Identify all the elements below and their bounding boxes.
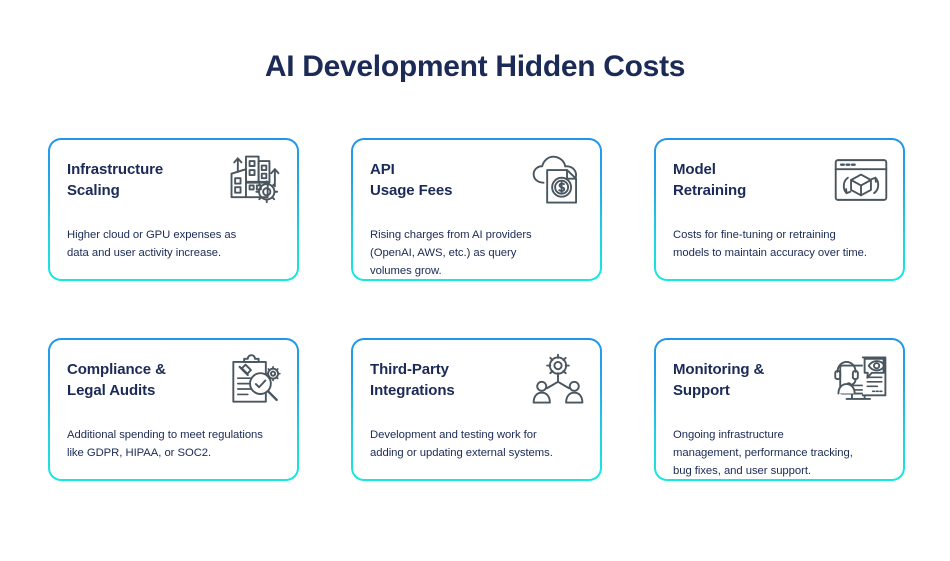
monitor-eye-headset-icon bbox=[832, 352, 890, 408]
card-body: Ongoing infrastructure management, perfo… bbox=[673, 426, 889, 479]
card-heading: Third-Party Integrations bbox=[370, 359, 510, 401]
cards-grid: Infrastructure Scaling Higher cloud or G… bbox=[48, 138, 904, 481]
card-body: Development and testing work for adding … bbox=[370, 426, 586, 462]
clipboard-gavel-magnifier-icon bbox=[226, 352, 284, 408]
card-compliance-legal-audits[interactable]: Compliance & Legal Audits Additional spe… bbox=[48, 338, 299, 481]
card-body: Rising charges from AI providers (OpenAI… bbox=[370, 226, 586, 279]
card-body: Costs for fine-tuning or retraining mode… bbox=[673, 226, 889, 262]
browser-box-refresh-icon bbox=[832, 152, 890, 208]
card-inner: Third-Party Integrations Development and… bbox=[353, 340, 600, 479]
card-body: Higher cloud or GPU expenses as data and… bbox=[67, 226, 283, 262]
card-inner: Compliance & Legal Audits Additional spe… bbox=[50, 340, 297, 479]
card-inner: Model Retraining Costs for fine-tuning o… bbox=[656, 140, 903, 279]
card-inner: API Usage Fees Rising charges from AI pr… bbox=[353, 140, 600, 279]
buildings-growth-gear-icon bbox=[226, 152, 284, 208]
card-inner: Monitoring & Support Ongoing infrastruct… bbox=[656, 340, 903, 479]
card-third-party-integrations[interactable]: Third-Party Integrations Development and… bbox=[351, 338, 602, 481]
card-inner: Infrastructure Scaling Higher cloud or G… bbox=[50, 140, 297, 279]
card-heading: Monitoring & Support bbox=[673, 359, 813, 401]
card-infrastructure-scaling[interactable]: Infrastructure Scaling Higher cloud or G… bbox=[48, 138, 299, 281]
card-heading: Infrastructure Scaling bbox=[67, 159, 207, 201]
page-title: AI Development Hidden Costs bbox=[0, 46, 950, 88]
card-heading: Model Retraining bbox=[673, 159, 813, 201]
card-api-usage-fees[interactable]: API Usage Fees Rising charges from AI pr… bbox=[351, 138, 602, 281]
card-model-retraining[interactable]: Model Retraining Costs for fine-tuning o… bbox=[654, 138, 905, 281]
cloud-invoice-dollar-icon bbox=[529, 152, 587, 208]
card-heading: API Usage Fees bbox=[370, 159, 510, 201]
card-body: Additional spending to meet regulations … bbox=[67, 426, 283, 462]
card-monitoring-support[interactable]: Monitoring & Support Ongoing infrastruct… bbox=[654, 338, 905, 481]
card-heading: Compliance & Legal Audits bbox=[67, 359, 207, 401]
gear-people-network-icon bbox=[529, 352, 587, 408]
